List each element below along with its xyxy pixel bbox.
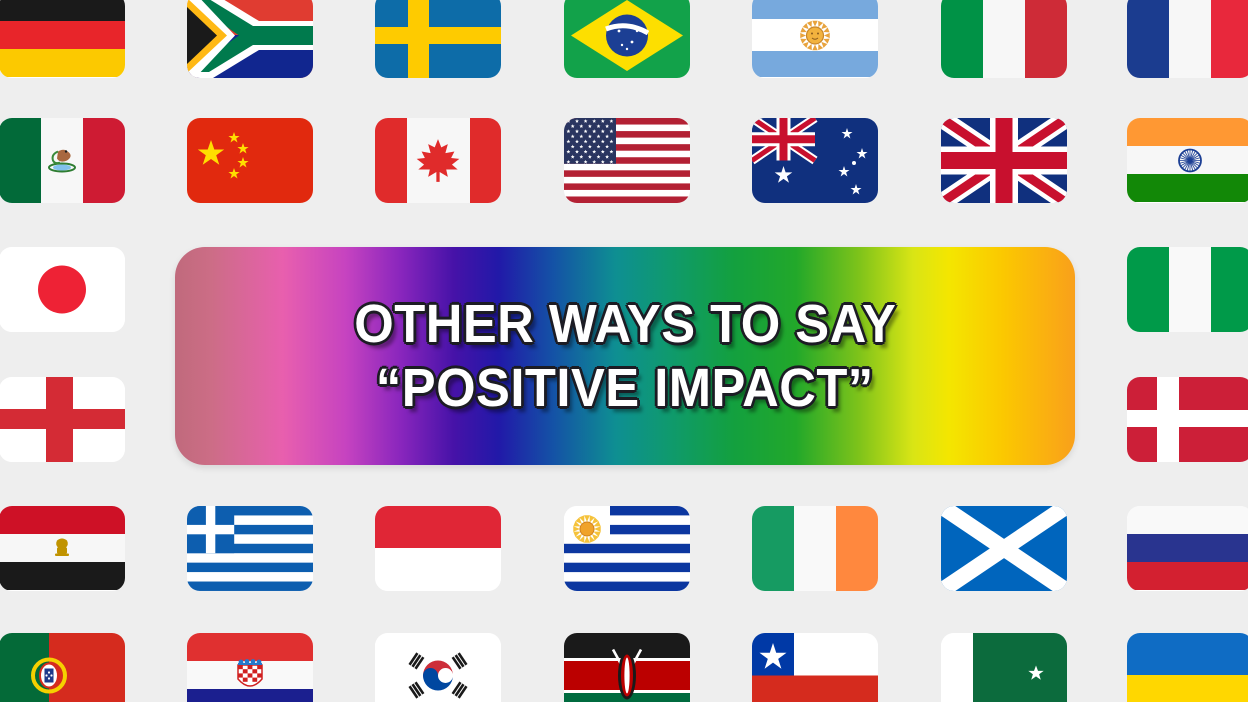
flag-south-africa-icon	[187, 0, 313, 78]
flag-united-kingdom-icon	[941, 118, 1067, 203]
flag-japan-icon	[0, 247, 125, 332]
flag-france-icon	[1127, 0, 1248, 78]
flag-argentina-icon	[752, 0, 878, 78]
flag-england-icon	[0, 377, 125, 462]
flag-mexico-icon	[0, 118, 125, 203]
flag-brazil-icon	[564, 0, 690, 78]
flag-china-icon	[187, 118, 313, 203]
flag-united-states-icon	[564, 118, 690, 203]
flag-pakistan-icon	[941, 633, 1067, 702]
flag-russia-icon	[1127, 506, 1248, 591]
flag-uruguay-icon	[564, 506, 690, 591]
flag-ukraine-icon	[1127, 633, 1248, 702]
poster-canvas: OTHER WAYS TO SAY “POSITIVE IMPACT”	[0, 0, 1248, 702]
flag-ireland-icon	[752, 506, 878, 591]
title-line-1: OTHER WAYS TO SAY	[354, 295, 896, 353]
flag-australia-icon	[752, 118, 878, 203]
flag-kenya-icon	[564, 633, 690, 702]
flag-germany-icon	[0, 0, 125, 78]
flag-denmark-icon	[1127, 377, 1248, 462]
flag-sweden-icon	[375, 0, 501, 78]
flag-india-icon	[1127, 118, 1248, 203]
flag-canada-icon	[375, 118, 501, 203]
flag-italy-icon	[941, 0, 1067, 78]
flag-egypt-icon	[0, 506, 125, 591]
flag-nigeria-icon	[1127, 247, 1248, 332]
title-banner: OTHER WAYS TO SAY “POSITIVE IMPACT”	[175, 247, 1075, 465]
title-line-2: “POSITIVE IMPACT”	[376, 359, 874, 417]
flag-south-korea-icon	[375, 633, 501, 702]
flag-portugal-icon	[0, 633, 125, 702]
flag-chile-icon	[752, 633, 878, 702]
flag-croatia-icon	[187, 633, 313, 702]
flag-scotland-icon	[941, 506, 1067, 591]
flag-greece-icon	[187, 506, 313, 591]
flag-indonesia-icon	[375, 506, 501, 591]
